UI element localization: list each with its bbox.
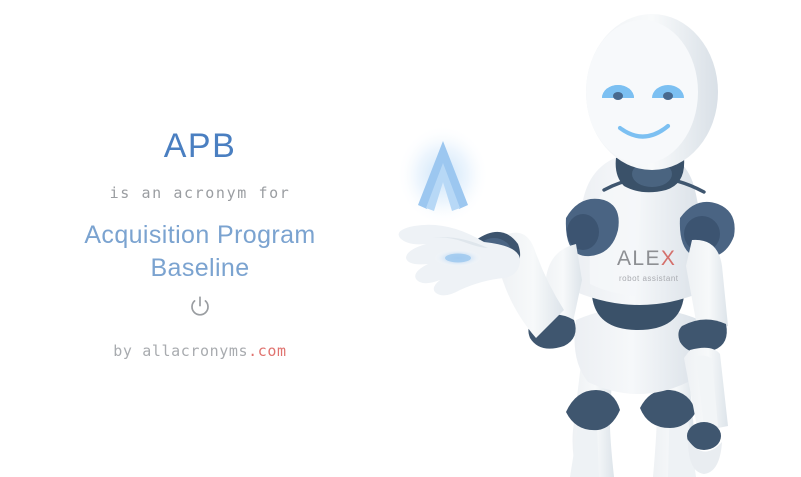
robot-left-arm (399, 225, 582, 349)
robot-assistant-illustration: ALEX robot assistant (380, 0, 801, 477)
acronym-connector-text: is an acronym for (0, 183, 400, 203)
chest-label-name-accent: X (661, 247, 676, 270)
byline[interactable]: by allacronyms.com (0, 341, 400, 361)
byline-site-name: allacronyms (142, 342, 248, 360)
chest-label-name-main: ALE (617, 247, 661, 270)
byline-prefix: by (113, 342, 142, 360)
chevron-hologram (397, 125, 489, 225)
power-icon[interactable] (0, 296, 400, 318)
acronym-expansion: Acquisition Program Baseline (0, 219, 400, 285)
acronym-text-panel: APB is an acronym for Acquisition Progra… (0, 0, 400, 477)
elbow-joint-right (678, 319, 726, 352)
chest-label-name: ALEX (617, 247, 676, 270)
acronym-title: APB (0, 126, 400, 166)
chest-label-subtitle: robot assistant (619, 274, 679, 283)
robot-head (586, 14, 718, 170)
byline-tld: .com (248, 342, 287, 360)
chest-label: ALEX robot assistant (617, 247, 679, 283)
acronym-definition-page: APB is an acronym for Acquisition Progra… (0, 0, 801, 477)
